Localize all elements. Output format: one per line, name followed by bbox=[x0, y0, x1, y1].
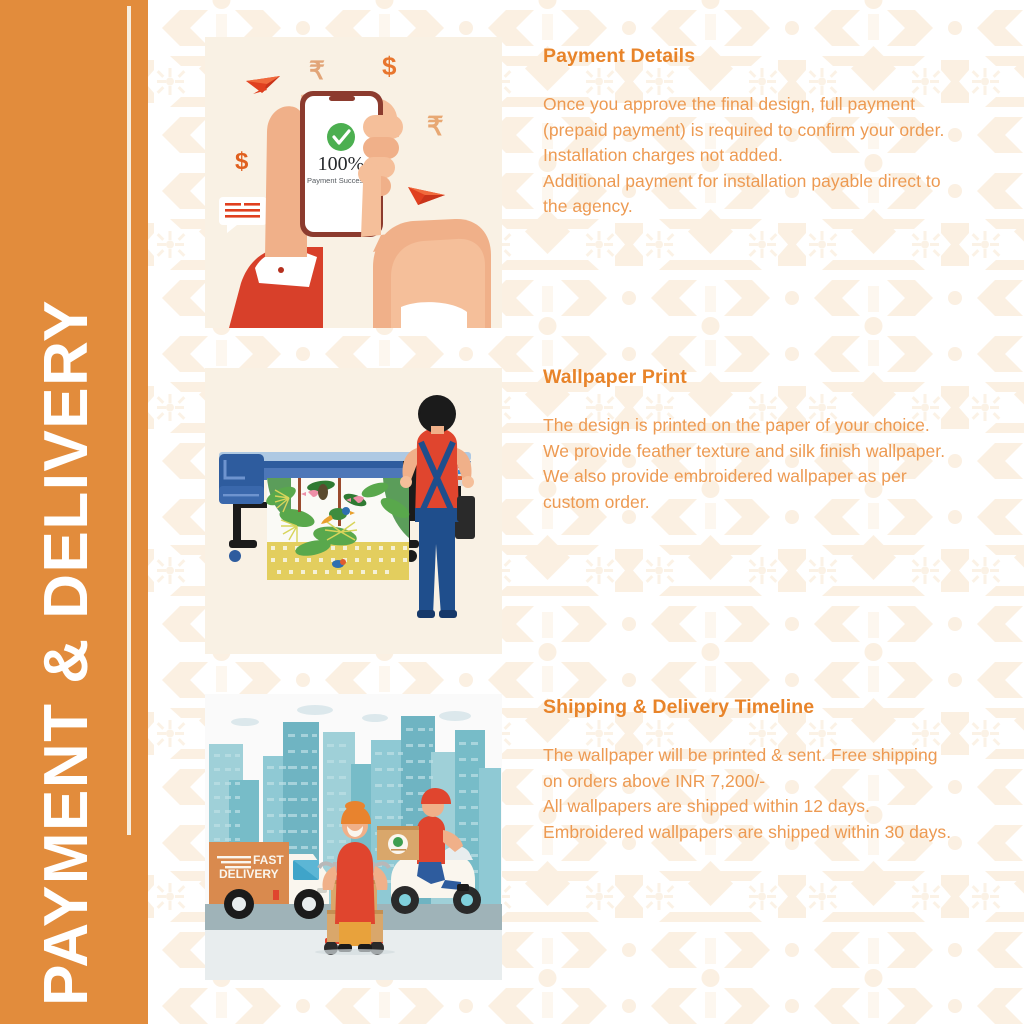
section-body-print: The design is printed on the paper of yo… bbox=[543, 413, 953, 515]
illustration-panel-delivery: FAST DELIVERY bbox=[205, 694, 502, 980]
tropical-wallpaper-print bbox=[264, 478, 413, 580]
section-text-print: Wallpaper Print The design is printed on… bbox=[543, 366, 953, 515]
section-heading-print: Wallpaper Print bbox=[543, 366, 953, 389]
wallpaper-printer-illustration bbox=[205, 368, 502, 654]
illustration-panel-printer bbox=[205, 368, 502, 654]
payment-percent-text: 100% bbox=[318, 153, 365, 175]
illustration-panel-payment: ₹ $ ₹ $ bbox=[205, 37, 502, 328]
section-heading-shipping: Shipping & Delivery Timeline bbox=[543, 696, 953, 719]
section-body-payment: Once you approve the final design, full … bbox=[543, 92, 953, 220]
page-title: PAYMENT & DELIVERY bbox=[0, 0, 148, 1024]
section-body-shipping: The wallpaper will be printed & sent. Fr… bbox=[543, 743, 953, 845]
rupee-symbol-icon-2: ₹ bbox=[427, 111, 444, 141]
delivery-illustration: FAST DELIVERY bbox=[205, 694, 502, 980]
section-text-shipping: Shipping & Delivery Timeline The wallpap… bbox=[543, 696, 953, 845]
section-text-payment: Payment Details Once you approve the fin… bbox=[543, 45, 953, 220]
mobile-payment-illustration: ₹ $ ₹ $ bbox=[205, 37, 502, 328]
section-heading-payment: Payment Details bbox=[543, 45, 953, 68]
success-check-icon bbox=[327, 123, 355, 151]
dollar-symbol-icon-2: $ bbox=[235, 148, 249, 175]
box-logo-icon bbox=[393, 837, 403, 847]
truck-label-delivery: DELIVERY bbox=[219, 867, 279, 881]
dollar-symbol-icon: $ bbox=[382, 51, 397, 81]
page-title-text: PAYMENT & DELIVERY bbox=[36, 299, 98, 1006]
rupee-symbol-icon: ₹ bbox=[309, 57, 325, 85]
truck-label-fast: FAST bbox=[253, 853, 284, 867]
